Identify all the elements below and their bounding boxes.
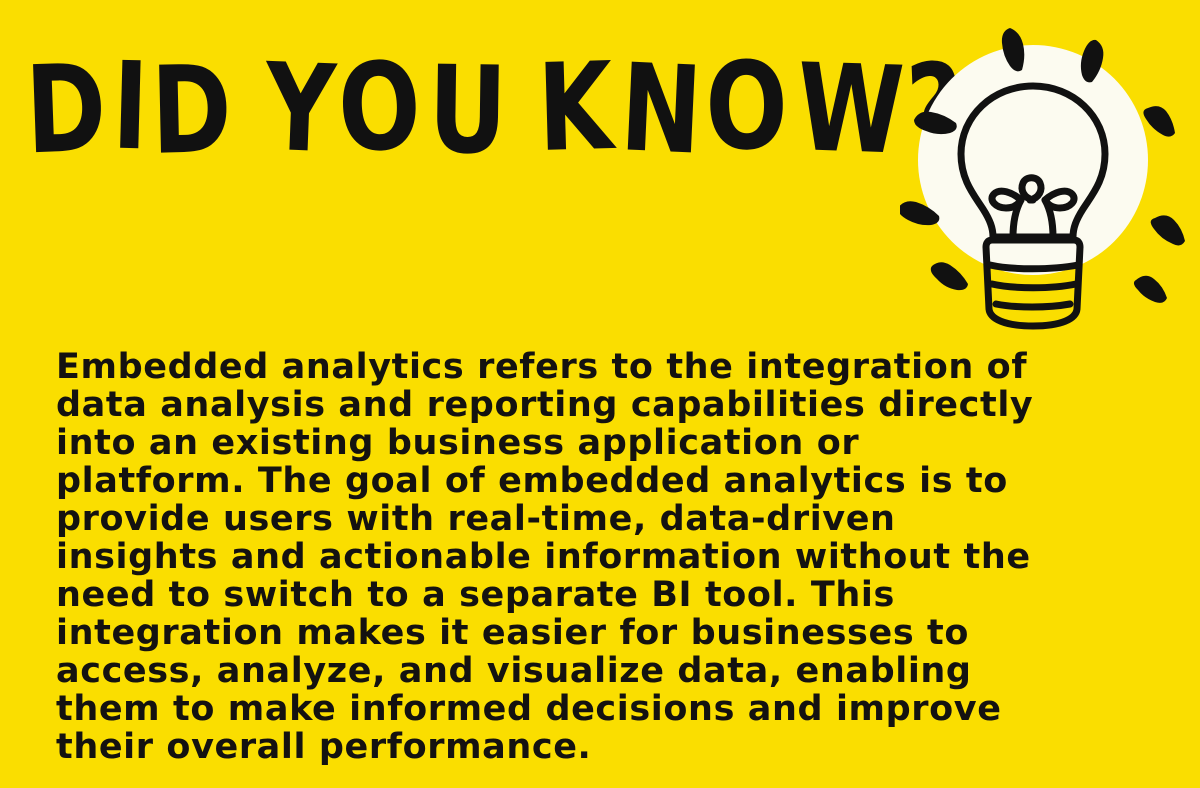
body-line: access, analyze, and visualize data, ena… — [56, 652, 1146, 690]
body-line: their overall performance. — [56, 728, 1146, 766]
page-title: DIDYOUKNOW? — [24, 62, 924, 182]
base-ridge-2 — [992, 284, 1076, 288]
headline-letter: O — [702, 59, 792, 164]
body-paragraph: Embedded analytics refers to the integra… — [56, 348, 1146, 766]
ray-left-lower — [931, 262, 968, 290]
headline-letter: W — [791, 61, 909, 169]
body-line: need to switch to a separate BI tool. Th… — [56, 576, 1146, 614]
body-line: integration makes it easier for business… — [56, 614, 1146, 652]
body-line: provide users with real-time, data-drive… — [56, 500, 1146, 538]
body-line: them to make informed decisions and impr… — [56, 690, 1146, 728]
headline-letter: K — [533, 60, 616, 166]
body-line: data analysis and reporting capabilities… — [56, 386, 1146, 424]
headline-letter: I — [110, 60, 151, 165]
base-ridge-3 — [996, 304, 1070, 307]
base-ridge-1 — [990, 265, 1078, 269]
body-line: into an existing business application or — [56, 424, 1146, 462]
headline-letter: D — [21, 62, 111, 169]
body-line: platform. The goal of embedded analytics… — [56, 462, 1146, 500]
ray-right-upper — [1143, 106, 1175, 137]
did-you-know-poster: DIDYOUKNOW? — [0, 0, 1200, 788]
headline-letter: D — [147, 63, 235, 169]
headline-letter: N — [615, 61, 707, 169]
headline-letter: Y — [261, 61, 340, 168]
lightbulb-idea-illustration — [900, 18, 1200, 363]
body-line: Embedded analytics refers to the integra… — [56, 348, 1146, 386]
ray-right-lower — [1134, 276, 1167, 303]
ray-right-mid — [1151, 215, 1185, 245]
body-line: insights and actionable information with… — [56, 538, 1146, 576]
headline-letter: O — [333, 59, 426, 167]
headline-letter: U — [425, 63, 511, 168]
